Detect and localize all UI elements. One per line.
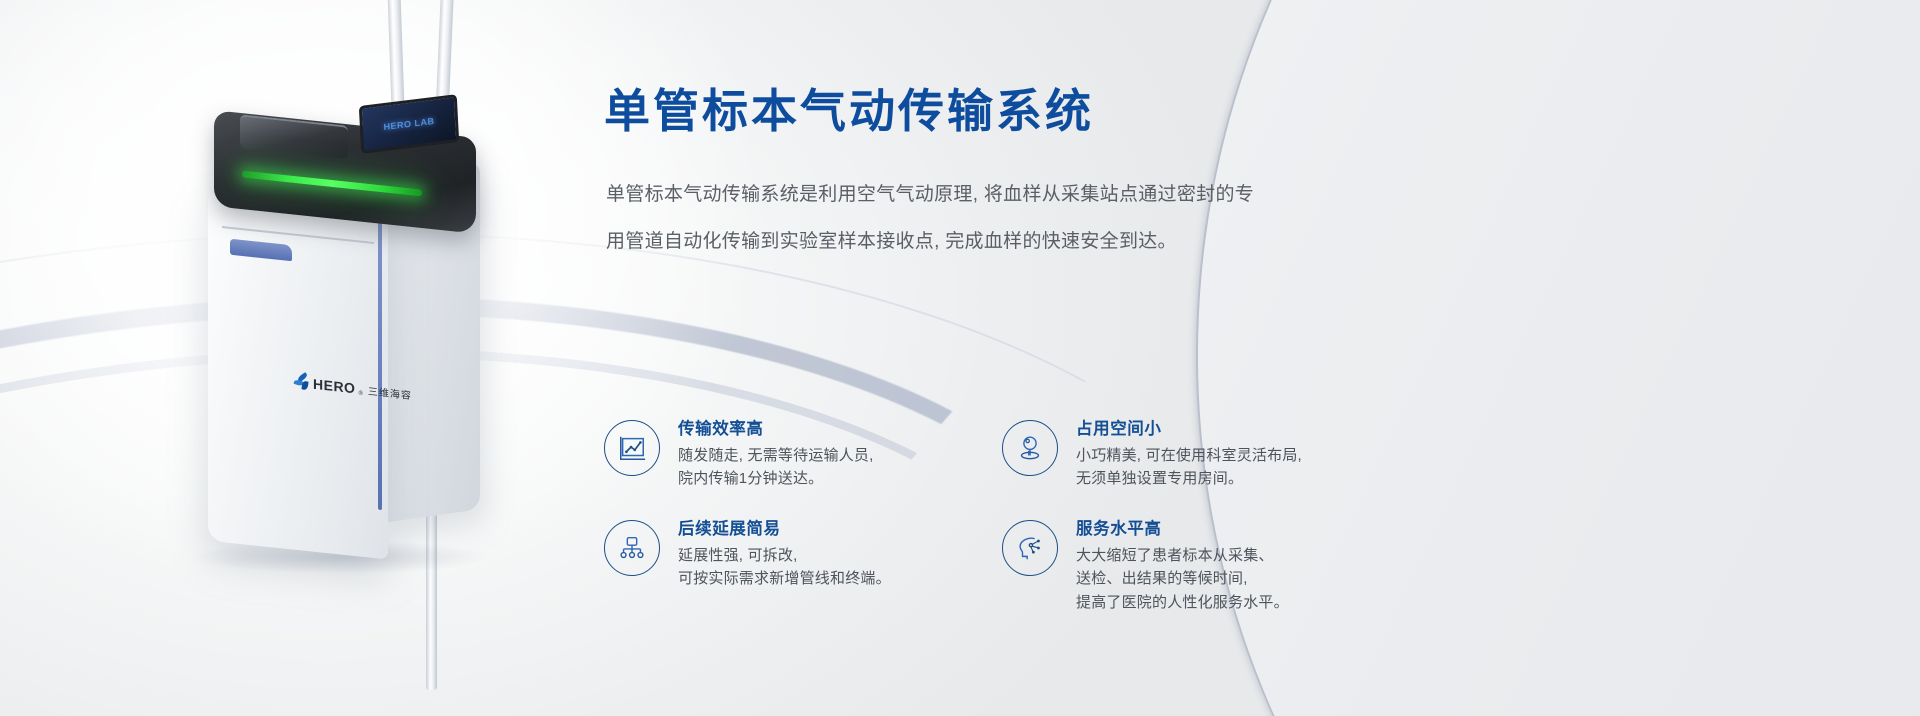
product-device-image: HERO LAB HERO ® 三维海容	[150, 0, 580, 716]
brand-registered-mark: ®	[358, 391, 362, 397]
feature-desc-line: 提高了医院的人性化服务水平。	[1076, 591, 1289, 614]
device-screen-logo: HERO LAB	[383, 116, 434, 132]
feature-text: 占用空间小 小巧精美, 可在使用科室灵活布局, 无须单独设置专用房间。	[1076, 418, 1302, 490]
location-pin-icon	[1002, 420, 1058, 476]
feature-title: 传输效率高	[678, 419, 874, 440]
feature-desc-line: 随发随走, 无需等待运输人员,	[678, 444, 874, 467]
feature-desc-line: 送检、出结果的等候时间,	[1076, 567, 1289, 590]
feature-title: 占用空间小	[1076, 419, 1302, 440]
smart-head-icon	[1002, 520, 1058, 576]
feature-item-space-saving: 占用空间小 小巧精美, 可在使用科室灵活布局, 无须单独设置专用房间。	[1002, 418, 1324, 490]
feature-item-transmission-efficiency: 传输效率高 随发随走, 无需等待运输人员, 院内传输1分钟送达。	[604, 418, 1002, 490]
page-title: 单管标本气动传输系统	[604, 86, 1094, 137]
feature-desc-line: 大大缩短了患者标本从采集、	[1076, 544, 1289, 567]
feature-desc-line: 延展性强, 可拆改,	[678, 544, 891, 567]
content-area: 单管标本气动传输系统 单管标本气动传输系统是利用空气气动原理, 将血样从采集站点…	[604, 0, 1604, 716]
feature-list: 传输效率高 随发随走, 无需等待运输人员, 院内传输1分钟送达。 占用空间小 小…	[604, 418, 1324, 614]
feature-title: 后续延展简易	[678, 519, 891, 540]
feature-item-easy-extension: 后续延展简易 延展性强, 可拆改, 可按实际需求新增管线和终端。	[604, 518, 1002, 614]
network-tree-icon	[604, 520, 660, 576]
feature-desc-line: 无须单独设置专用房间。	[1076, 467, 1302, 490]
feature-text: 后续延展简易 延展性强, 可拆改, 可按实际需求新增管线和终端。	[678, 518, 891, 590]
feature-desc-line: 院内传输1分钟送达。	[678, 467, 874, 490]
feature-title: 服务水平高	[1076, 519, 1289, 540]
feature-desc-line: 可按实际需求新增管线和终端。	[678, 567, 891, 590]
hero-bird-icon	[294, 372, 310, 392]
feature-text: 传输效率高 随发随走, 无需等待运输人员, 院内传输1分钟送达。	[678, 418, 874, 490]
feature-desc-line: 小巧精美, 可在使用科室灵活布局,	[1076, 444, 1302, 467]
feature-item-service-level: 服务水平高 大大缩短了患者标本从采集、 送检、出结果的等候时间, 提高了医院的人…	[1002, 518, 1324, 614]
page-description: 单管标本气动传输系统是利用空气气动原理, 将血样从采集站点通过密封的专用管道自动…	[606, 172, 1256, 265]
device-body: HERO LAB HERO ® 三维海容	[208, 150, 478, 550]
feature-text: 服务水平高 大大缩短了患者标本从采集、 送检、出结果的等候时间, 提高了医院的人…	[1076, 518, 1289, 614]
chart-growth-icon	[604, 420, 660, 476]
device-blue-edge	[378, 210, 382, 510]
